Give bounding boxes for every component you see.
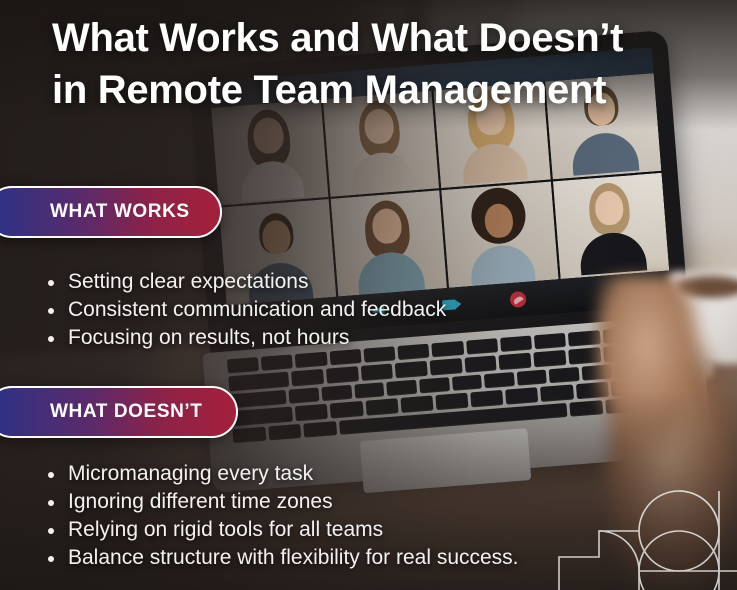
list-item: Consistent communication and feedback: [44, 296, 446, 324]
page-title: What Works and What Doesn’t in Remote Te…: [52, 12, 692, 116]
list-what-works: Setting clear expectations Consistent co…: [44, 268, 446, 352]
list-item: Focusing on results, not hours: [44, 324, 446, 352]
list-item: Balance structure with flexibility for r…: [44, 544, 519, 572]
list-item: Ignoring different time zones: [44, 488, 519, 516]
badge-what-doesnt-label: WHAT DOESN’T: [0, 401, 203, 423]
list-item: Micromanaging every task: [44, 460, 519, 488]
list-item: Setting clear expectations: [44, 268, 446, 296]
badge-what-works-label: WHAT WORKS: [0, 201, 190, 223]
list-what-doesnt: Micromanaging every task Ignoring differ…: [44, 460, 519, 572]
list-item: Relying on rigid tools for all teams: [44, 516, 519, 544]
poster: What Works and What Doesn’t in Remote Te…: [0, 0, 737, 590]
poster-content: What Works and What Doesn’t in Remote Te…: [0, 0, 737, 590]
title-line-2: in Remote Team Management: [52, 64, 692, 116]
title-line-1: What Works and What Doesn’t: [52, 16, 623, 60]
badge-what-works: WHAT WORKS: [0, 186, 222, 238]
badge-what-doesnt: WHAT DOESN’T: [0, 386, 238, 438]
